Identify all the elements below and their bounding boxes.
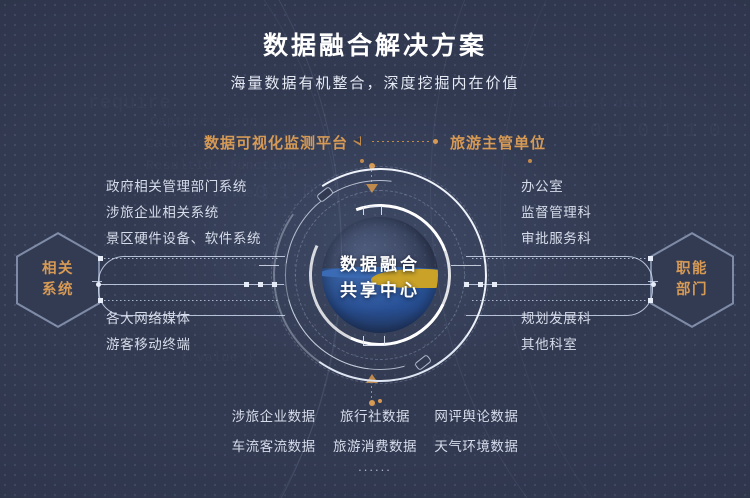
list-item[interactable]: 网评舆论数据 bbox=[434, 404, 518, 430]
list-item[interactable]: 旅游消费数据 bbox=[333, 434, 417, 460]
right-dotted-line-bottom bbox=[472, 300, 650, 301]
page-subtitle: 海量数据有机整合，深度挖掘内在价值 bbox=[0, 72, 750, 93]
background-code-text: { value } bbox=[180, 350, 255, 365]
data-fusion-core: 数据融合 共享中心 bbox=[265, 160, 495, 390]
hexagon-left-label: 相关 系统 bbox=[16, 232, 100, 328]
page-title: 数据融合解决方案 bbox=[0, 26, 750, 62]
list-item[interactable]: 政府相关管理部门系统 bbox=[106, 174, 261, 200]
core-tick-bottom bbox=[363, 336, 385, 346]
hexagon-right-label: 职能 部门 bbox=[650, 232, 734, 328]
hexagon-right-line1: 职能 bbox=[676, 259, 708, 280]
infographic-canvas: require Capture: json Category: default … bbox=[0, 0, 750, 498]
core-connector-right bbox=[451, 265, 481, 266]
bottom-data-label-grid: 涉旅企业数据 旅行社数据 网评舆论数据 车流客流数据 旅游消费数据 天气环境数据 bbox=[225, 404, 525, 460]
list-item[interactable]: 审批服务科 bbox=[521, 226, 592, 252]
list-item[interactable]: 监督管理科 bbox=[521, 200, 592, 226]
hexagon-left-line2: 系统 bbox=[42, 280, 74, 301]
left-top-label-column: 政府相关管理部门系统 涉旅企业相关系统 景区硬件设备、软件系统 bbox=[106, 174, 261, 252]
dotted-arrow-icon bbox=[360, 136, 438, 148]
right-dot-top bbox=[648, 256, 653, 261]
core-tick-top-right bbox=[381, 206, 383, 215]
hexagon-related-systems[interactable]: 相关 系统 bbox=[16, 232, 100, 328]
left-hex-stub bbox=[92, 281, 102, 282]
hexagon-right-line2: 部门 bbox=[676, 280, 708, 301]
background-code-text: import { data } bbox=[540, 96, 665, 111]
left-bottom-label-column: 各大网络媒体 游客移动终端 bbox=[106, 306, 191, 358]
authority-label[interactable]: 旅游主管单位 bbox=[450, 132, 546, 153]
authority-tick-dot bbox=[528, 159, 532, 163]
hexagon-functional-departments[interactable]: 职能 部门 bbox=[650, 232, 734, 328]
list-item[interactable]: 游客移动终端 bbox=[106, 332, 191, 358]
core-tick-top-left bbox=[363, 206, 365, 215]
right-hex-stub bbox=[648, 281, 658, 282]
list-item[interactable]: 旅行社数据 bbox=[340, 404, 410, 430]
right-top-label-column: 办公室 监督管理科 审批服务科 bbox=[521, 174, 592, 252]
list-item[interactable]: 规划发展科 bbox=[521, 306, 592, 332]
hexagon-left-line1: 相关 bbox=[42, 259, 74, 280]
bracket-node bbox=[244, 282, 249, 287]
platform-label[interactable]: 数据可视化监测平台 bbox=[204, 132, 348, 153]
list-item[interactable]: 涉旅企业数据 bbox=[232, 404, 316, 430]
left-dotted-line-top bbox=[100, 258, 278, 259]
top-label-row: 数据可视化监测平台 旅游主管单位 bbox=[0, 131, 750, 153]
list-item[interactable]: 各大网络媒体 bbox=[106, 306, 191, 332]
list-item[interactable]: 涉旅企业相关系统 bbox=[106, 200, 261, 226]
bottom-tick-dot bbox=[378, 399, 382, 403]
left-dotted-line-bottom bbox=[100, 300, 278, 301]
core-connector-left bbox=[259, 265, 279, 266]
list-item[interactable]: 景区硬件设备、软件系统 bbox=[106, 226, 261, 252]
bracket-node bbox=[651, 282, 656, 287]
list-item[interactable]: 其他科室 bbox=[521, 332, 592, 358]
core-sphere bbox=[322, 217, 438, 333]
background-code-text: Capture: json bbox=[150, 114, 258, 129]
bottom-ellipsis: ...... bbox=[0, 459, 750, 474]
bracket-node bbox=[96, 282, 101, 287]
list-item[interactable]: 办公室 bbox=[521, 174, 592, 200]
bracket-node bbox=[258, 282, 263, 287]
list-item[interactable]: 车流客流数据 bbox=[232, 434, 316, 460]
core-tick-top bbox=[366, 206, 382, 215]
right-dot-bottom bbox=[648, 298, 653, 303]
background-code-text: require bbox=[88, 92, 171, 114]
list-item[interactable]: 天气环境数据 bbox=[434, 434, 518, 460]
left-dot-top bbox=[98, 256, 103, 261]
left-dot-bottom bbox=[98, 298, 103, 303]
right-dotted-line-top bbox=[472, 258, 650, 259]
right-bottom-label-column: 规划发展科 其他科室 bbox=[521, 306, 592, 358]
